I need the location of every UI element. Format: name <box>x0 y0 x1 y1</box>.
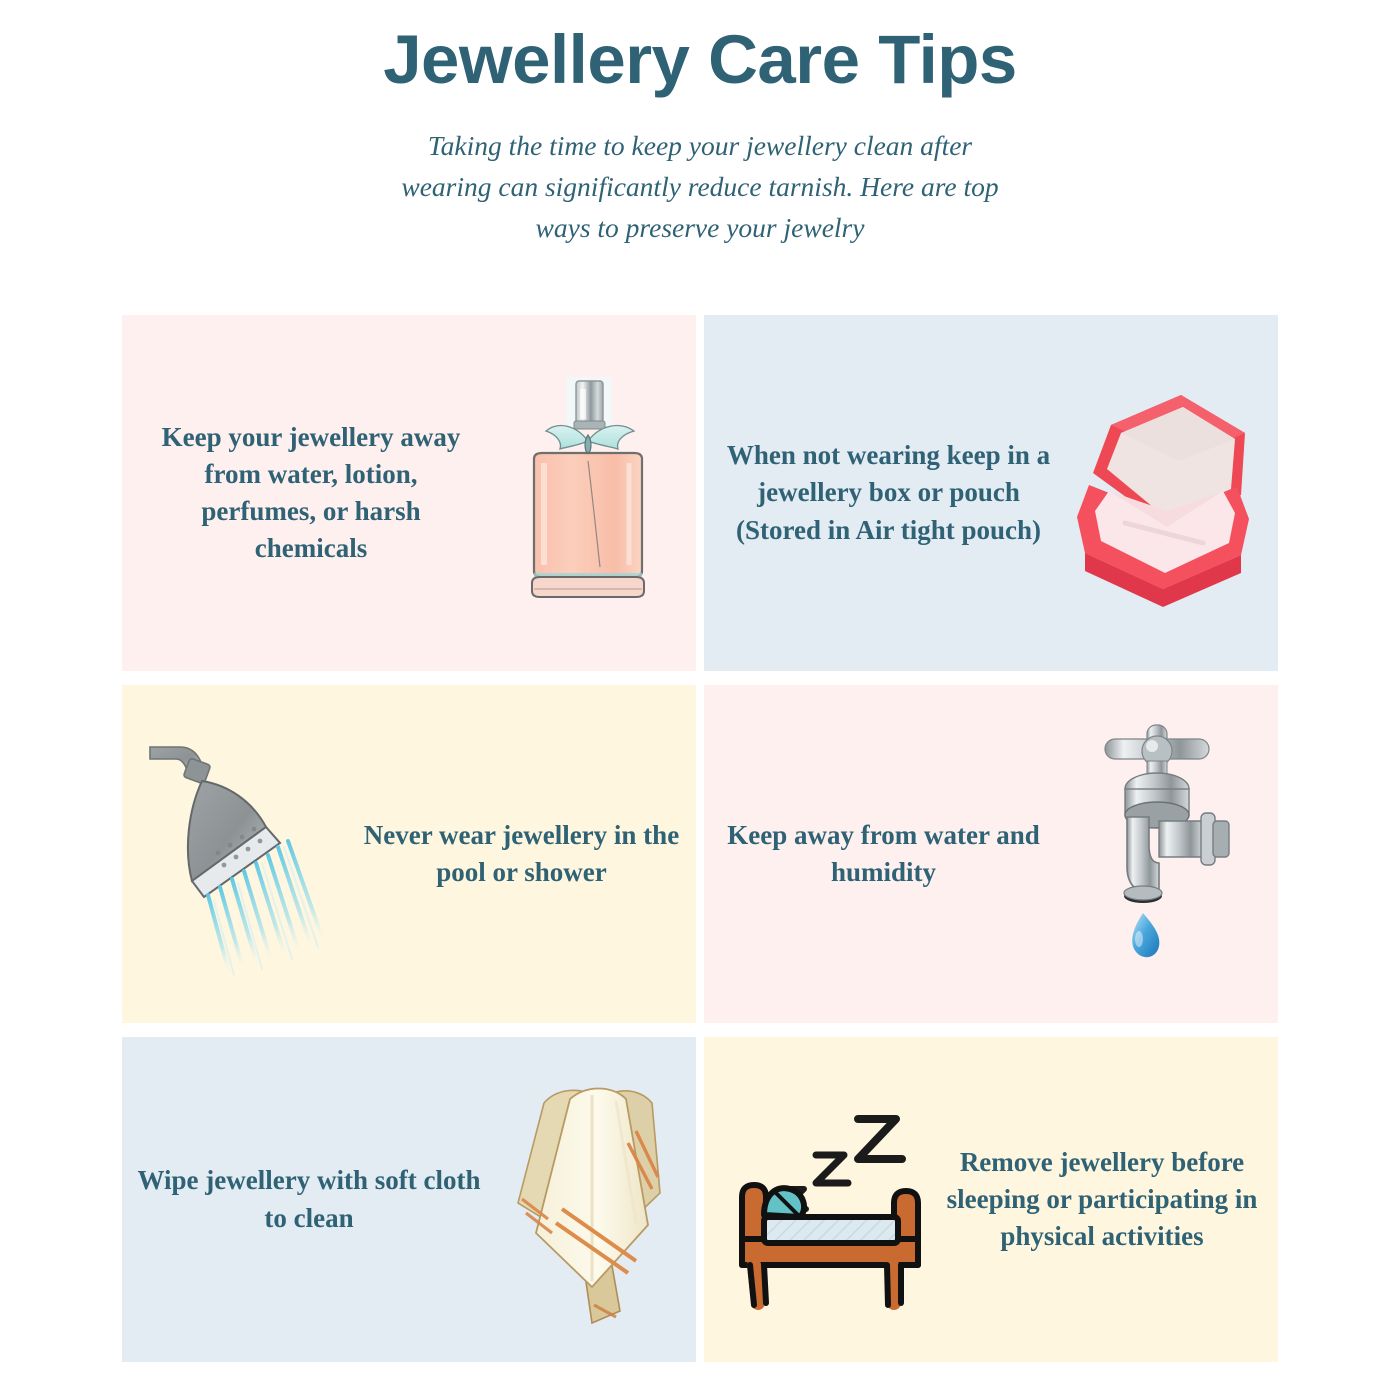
page-subtitle: Taking the time to keep your jewellery c… <box>380 96 1020 248</box>
tip-card-text: When not wearing keep in a jewellery box… <box>704 437 1063 549</box>
tip-card-sleeping-activities[interactable]: Remove jewellery before sleeping or part… <box>704 1037 1278 1362</box>
tips-grid: Keep your jewellery away from water, lot… <box>122 315 1277 1362</box>
tip-card-pool-shower[interactable]: Never wear jewellery in the pool or show… <box>122 685 696 1023</box>
tip-card-soft-cloth[interactable]: Wipe jewellery with soft cloth to clean <box>122 1037 696 1362</box>
bed-sleep-icon <box>704 1037 934 1362</box>
tip-card-water-humidity[interactable]: Keep away from water and humidity <box>704 685 1278 1023</box>
faucet-icon <box>1063 685 1278 1023</box>
tip-card-text: Keep your jewellery away from water, lot… <box>122 419 486 568</box>
shower-head-icon <box>122 685 347 1023</box>
tip-card-jewellery-box[interactable]: When not wearing keep in a jewellery box… <box>704 315 1278 671</box>
tip-card-text: Remove jewellery before sleeping or part… <box>934 1144 1278 1256</box>
tip-card-text: Keep away from water and humidity <box>704 817 1063 892</box>
page-title: Jewellery Care Tips <box>0 0 1400 96</box>
ring-box-icon <box>1063 315 1278 671</box>
cloth-icon <box>496 1037 696 1362</box>
infographic-page: Jewellery Care Tips Taking the time to k… <box>0 0 1400 1400</box>
tip-card-text: Never wear jewellery in the pool or show… <box>347 817 696 892</box>
tip-card-water-lotion-perfume[interactable]: Keep your jewellery away from water, lot… <box>122 315 696 671</box>
tip-card-text: Wipe jewellery with soft cloth to clean <box>122 1162 496 1237</box>
perfume-bottle-icon <box>486 315 696 671</box>
header: Jewellery Care Tips Taking the time to k… <box>0 0 1400 249</box>
